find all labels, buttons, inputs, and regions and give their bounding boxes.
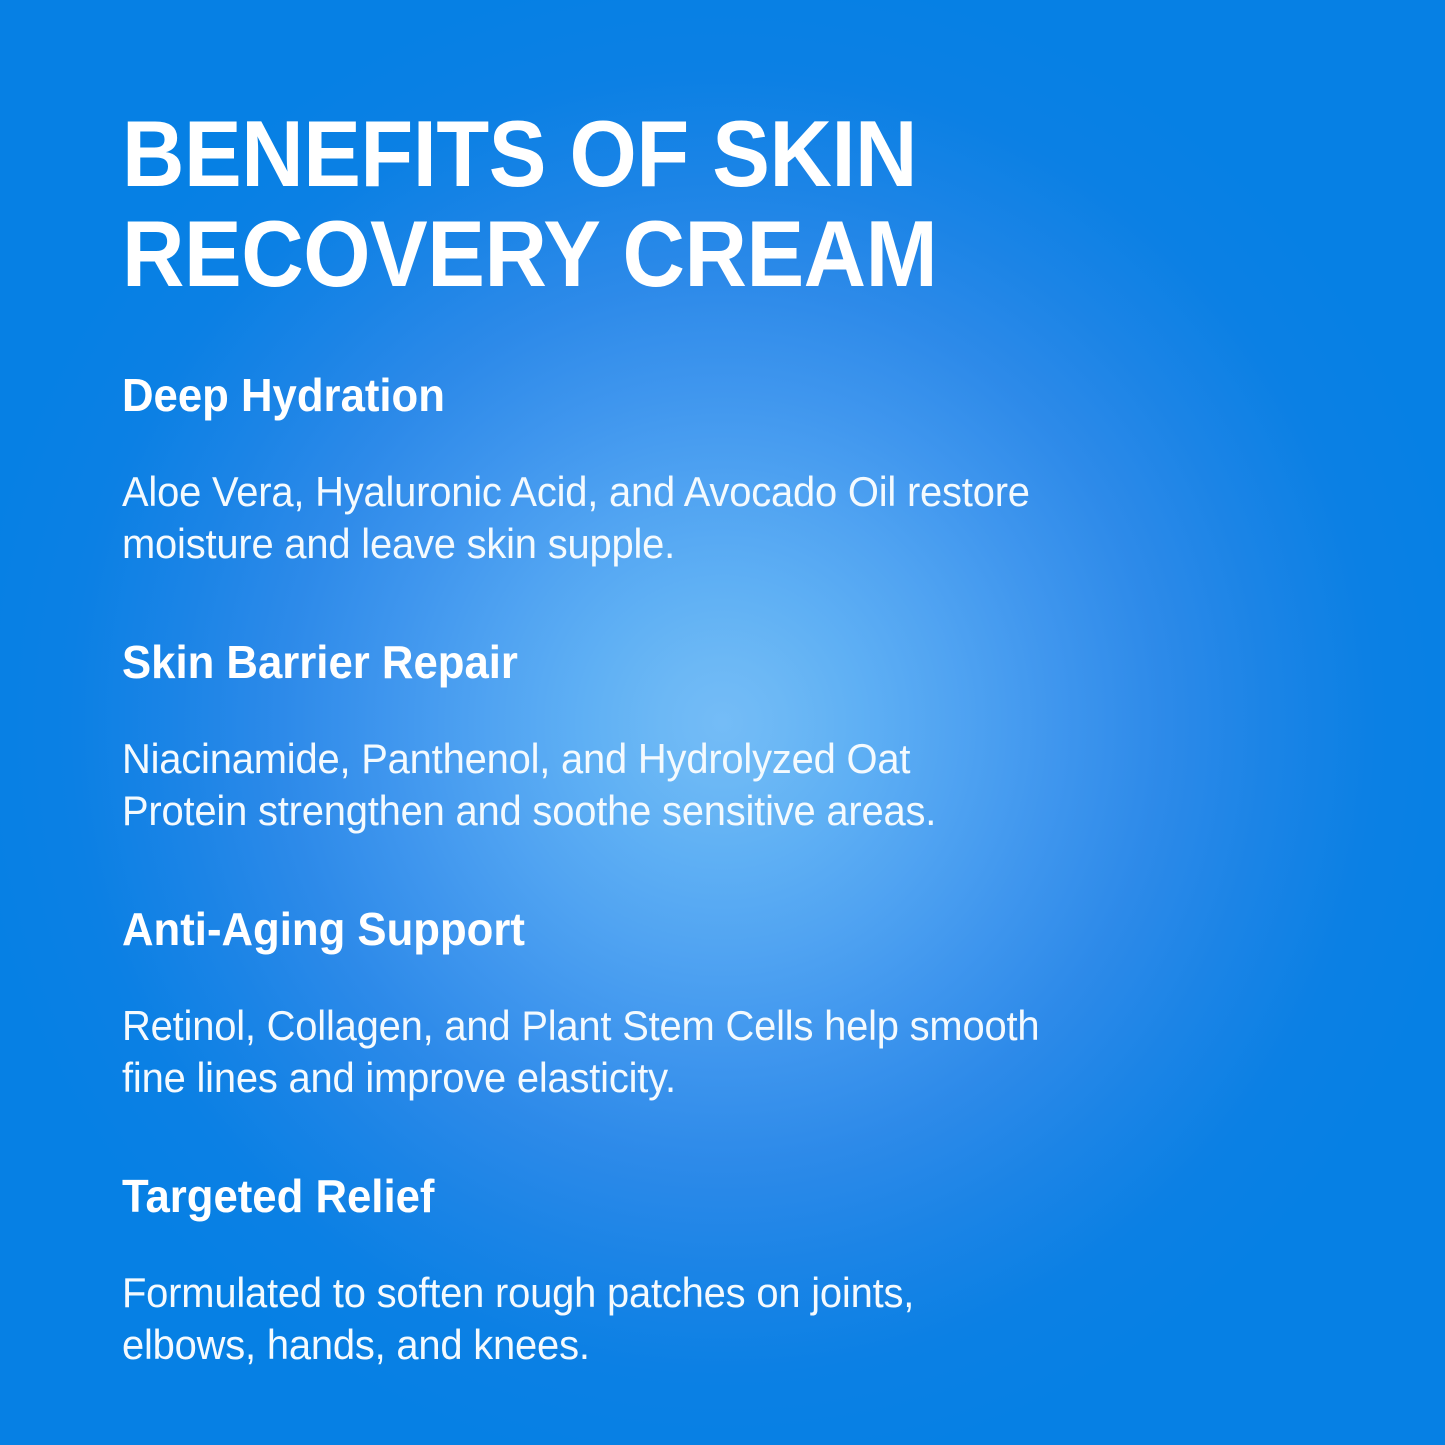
benefit-description-line-2: moisture and leave skin supple.: [122, 518, 1243, 570]
benefit-description: Aloe Vera, Hyaluronic Acid, and Avocado …: [122, 466, 1243, 570]
benefit-description: Retinol, Collagen, and Plant Stem Cells …: [122, 1000, 1243, 1104]
benefit-description-line-2: elbows, hands, and knees.: [122, 1319, 1243, 1371]
page-title-line-1: BENEFITS OF SKIN: [122, 101, 917, 206]
benefit-heading: Anti-Aging Support: [122, 906, 1243, 952]
benefits-poster: BENEFITS OF SKIN RECOVERY CREAM Deep Hyd…: [0, 0, 1445, 1445]
benefit-description-line-2: fine lines and improve elasticity.: [122, 1052, 1243, 1104]
benefit-heading: Targeted Relief: [122, 1173, 1243, 1219]
benefit-description: Niacinamide, Panthenol, and Hydrolyzed O…: [122, 733, 1243, 837]
benefit-description-line-1: Retinol, Collagen, and Plant Stem Cells …: [122, 1000, 1243, 1052]
benefit-heading: Skin Barrier Repair: [122, 639, 1243, 685]
page-title-line-2: RECOVERY CREAM: [122, 201, 937, 306]
benefit-section-skin-barrier-repair: Skin Barrier Repair Niacinamide, Panthen…: [122, 639, 1302, 837]
benefit-description-line-2: Protein strengthen and soothe sensitive …: [122, 785, 1243, 837]
benefit-description-line-1: Aloe Vera, Hyaluronic Acid, and Avocado …: [122, 466, 1243, 518]
benefit-section-deep-hydration: Deep Hydration Aloe Vera, Hyaluronic Aci…: [122, 372, 1302, 570]
page-title: BENEFITS OF SKIN RECOVERY CREAM: [122, 104, 1125, 304]
benefit-section-anti-aging-support: Anti-Aging Support Retinol, Collagen, an…: [122, 906, 1302, 1104]
benefit-description-line-1: Formulated to soften rough patches on jo…: [122, 1267, 1243, 1319]
benefit-heading: Deep Hydration: [122, 372, 1243, 418]
benefit-section-targeted-relief: Targeted Relief Formulated to soften rou…: [122, 1173, 1302, 1371]
benefit-description: Formulated to soften rough patches on jo…: [122, 1267, 1243, 1371]
benefit-description-line-1: Niacinamide, Panthenol, and Hydrolyzed O…: [122, 733, 1243, 785]
